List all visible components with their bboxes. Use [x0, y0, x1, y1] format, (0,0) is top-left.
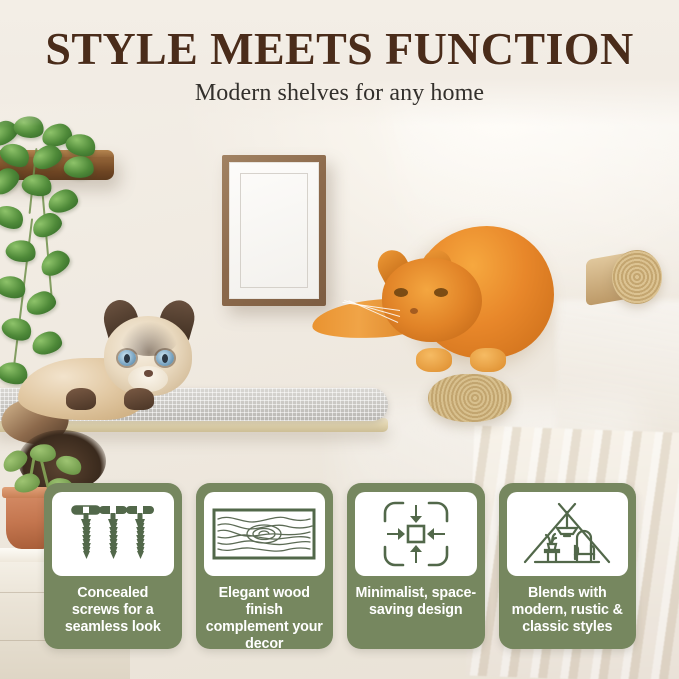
feature-card-row: Concealed screws for a seamless look: [44, 483, 636, 649]
page-title: STYLE MEETS FUNCTION: [0, 26, 679, 73]
icon-panel: [52, 492, 174, 576]
picture-frame-mat: [229, 162, 319, 299]
feature-card-space-saving[interactable]: Minimalist, space-saving design: [347, 483, 485, 649]
siamese-cat-nose: [144, 370, 153, 377]
siamese-cat-paw-right: [124, 388, 154, 410]
siamese-cat: [8, 292, 218, 452]
wood-grain-icon: [212, 508, 316, 560]
orange-cat-eye-left: [394, 288, 408, 297]
home-interior-icon: [519, 500, 615, 568]
icon-panel: [507, 492, 629, 576]
siamese-cat-paw-left: [66, 388, 96, 410]
icon-panel: [355, 492, 477, 576]
feature-card-wood-finish[interactable]: Elegant wood finish complement your deco…: [196, 483, 334, 649]
orange-cat-head: [382, 258, 482, 342]
siamese-cat-pupil-left: [124, 354, 130, 363]
sisal-step-lower: [428, 374, 512, 422]
orange-cat-eye-right: [434, 288, 448, 297]
icon-panel: [204, 492, 326, 576]
screws-icon: [70, 501, 156, 567]
page-subtitle: Modern shelves for any home: [0, 80, 679, 107]
sisal-post-face: [612, 250, 662, 304]
feature-card-label: Blends with modern, rustic & classic sty…: [507, 585, 629, 636]
orange-cat-nose: [410, 308, 418, 314]
sisal-post-upper: [586, 250, 658, 308]
infographic-canvas: STYLE MEETS FUNCTION Modern shelves for …: [0, 0, 679, 679]
picture-frame: [222, 155, 326, 306]
feature-card-label: Minimalist, space-saving design: [355, 585, 477, 619]
feature-card-label: Elegant wood finish complement your deco…: [204, 585, 326, 652]
siamese-cat-pupil-right: [162, 354, 168, 363]
header: STYLE MEETS FUNCTION Modern shelves for …: [0, 0, 679, 126]
feature-card-concealed-screws[interactable]: Concealed screws for a seamless look: [44, 483, 182, 649]
feature-card-label: Concealed screws for a seamless look: [52, 585, 174, 636]
feature-card-blends-styles[interactable]: Blends with modern, rustic & classic sty…: [499, 483, 637, 649]
orange-cat-paw-left: [416, 348, 452, 372]
orange-cat-paw-right: [470, 348, 506, 372]
space-saving-icon: [381, 499, 451, 569]
